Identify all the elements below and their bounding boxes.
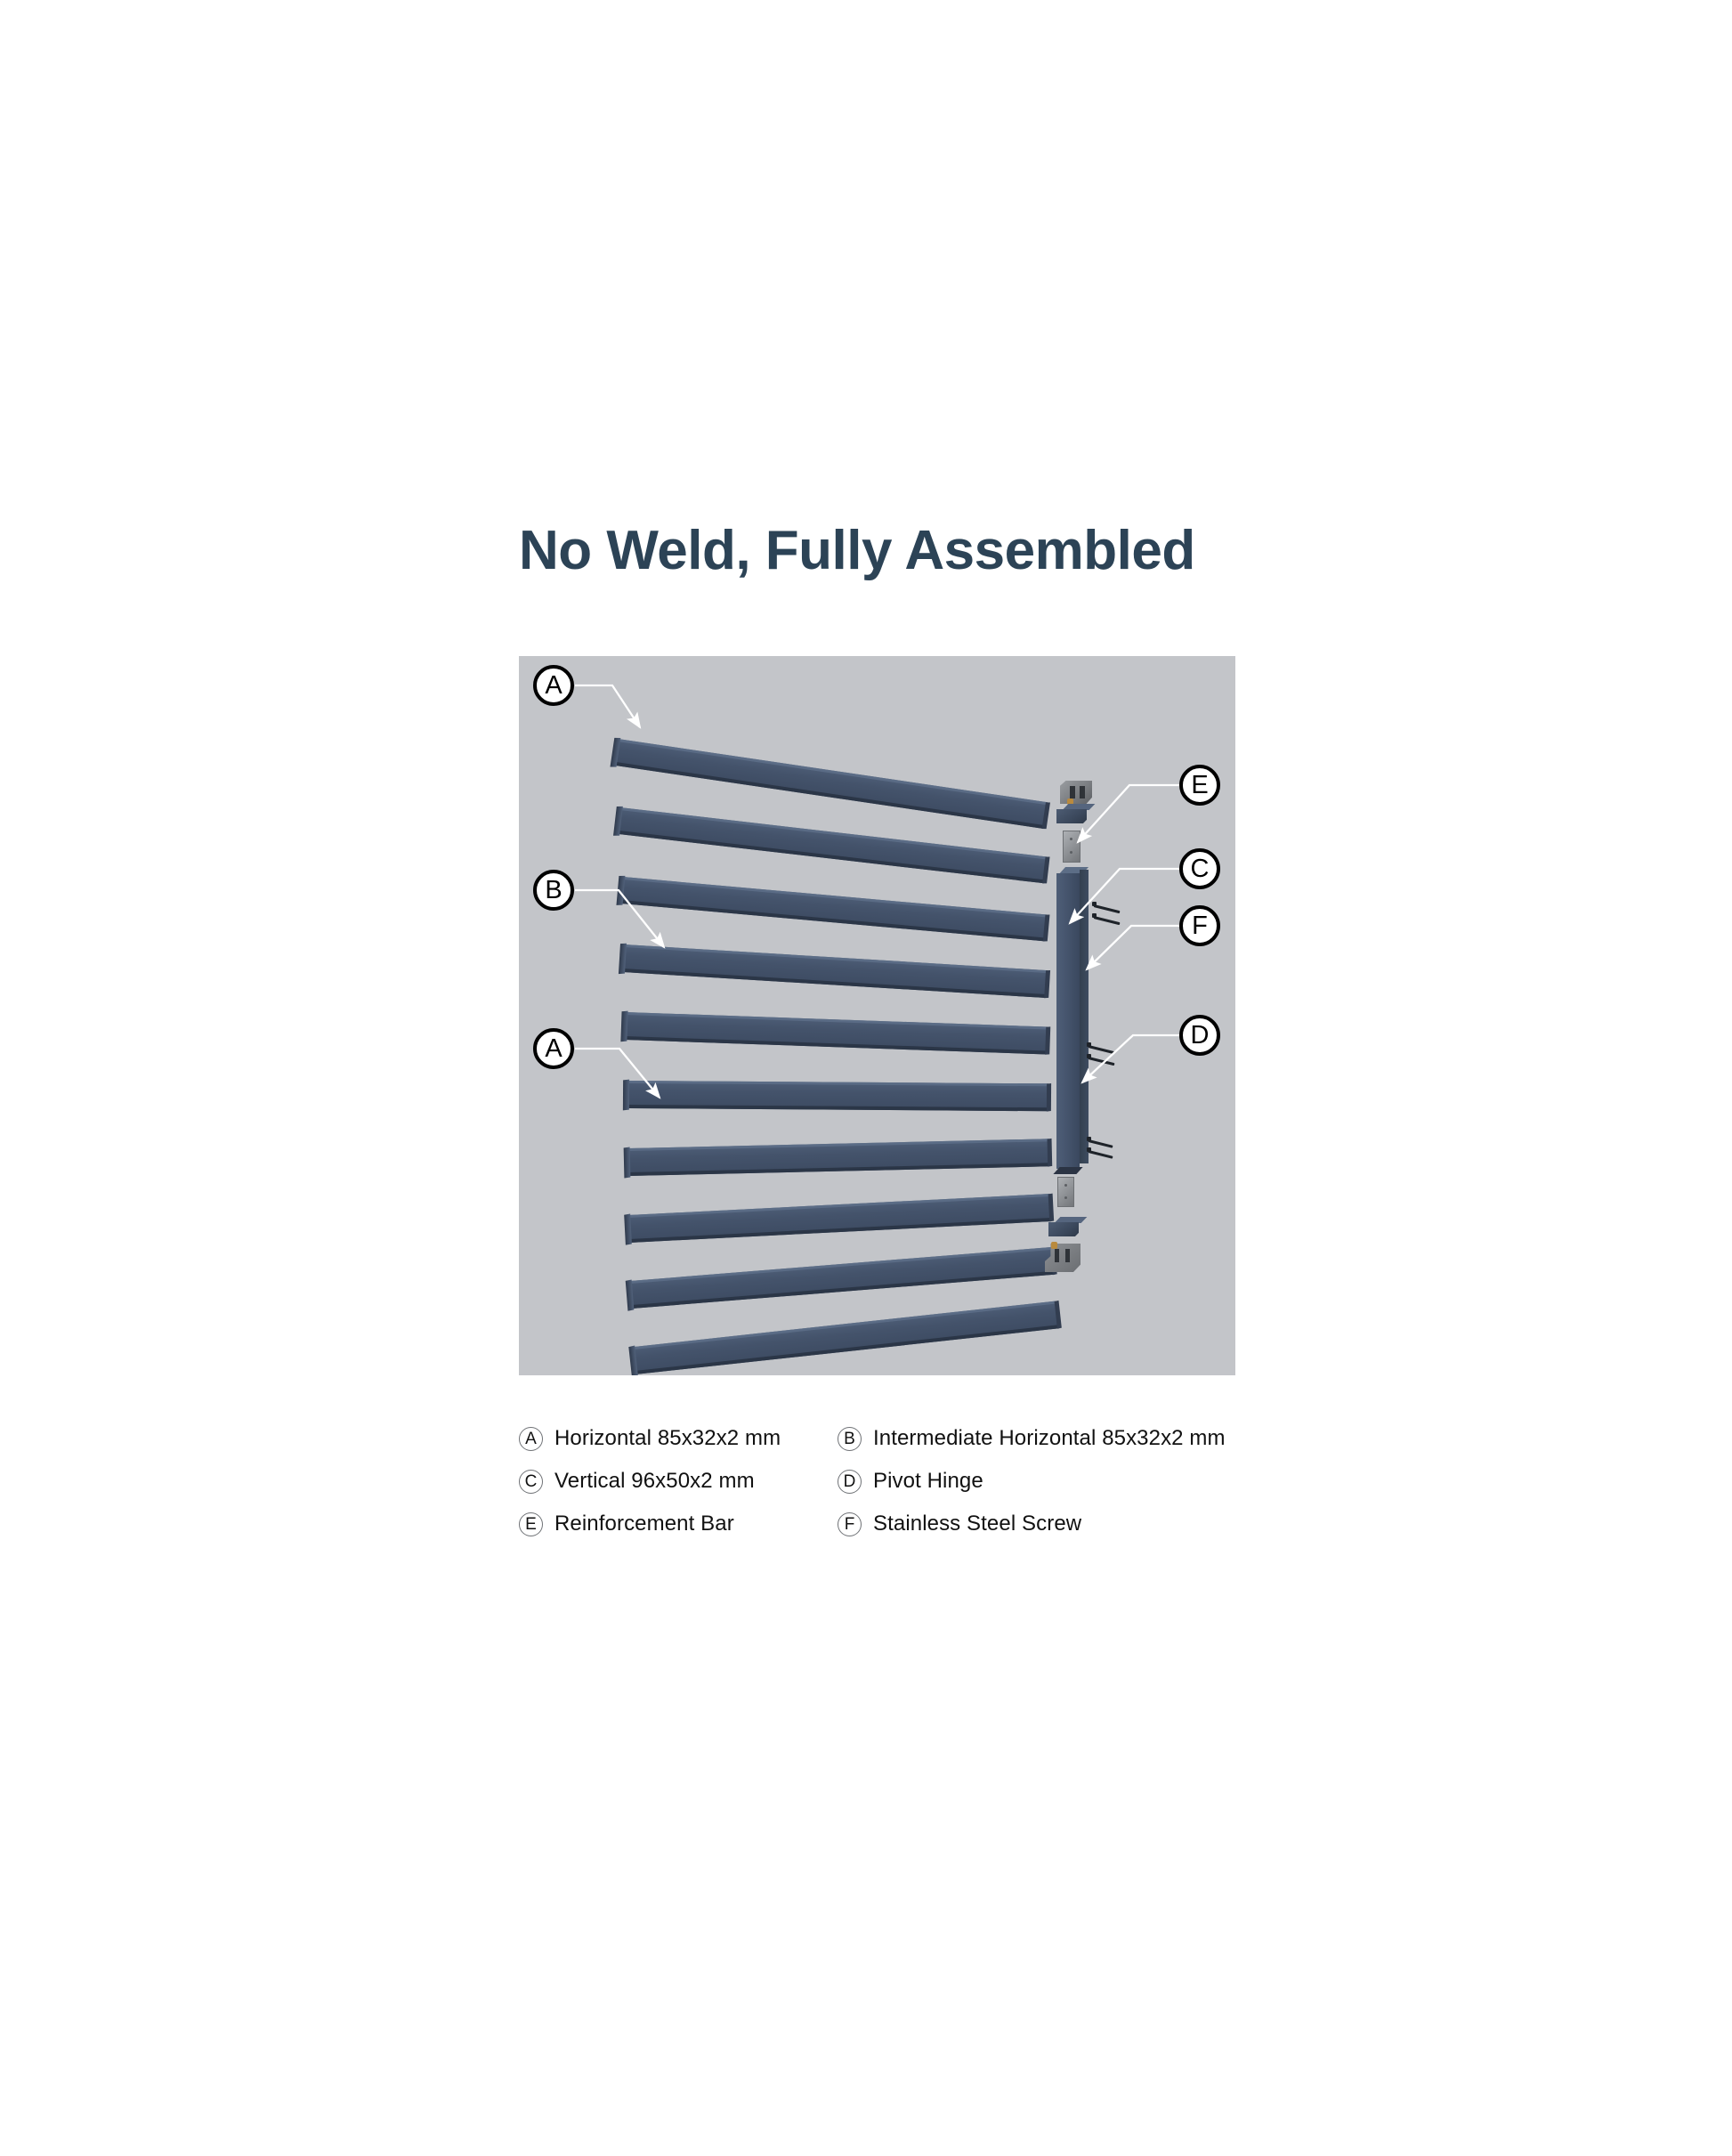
legend-badge-a: A [519, 1427, 543, 1451]
callout-b[interactable]: B [533, 870, 574, 911]
stainless-steel-screw [1089, 1150, 1113, 1159]
stainless-steel-screw [1094, 916, 1121, 925]
callout-d[interactable]: D [1179, 1015, 1220, 1056]
legend-label-f: Stainless Steel Screw [873, 1512, 1081, 1536]
stainless-steel-screw [1089, 1139, 1113, 1148]
legend-item-f: F Stainless Steel Screw [838, 1512, 1240, 1536]
legend-item-c: C Vertical 96x50x2 mm [519, 1469, 838, 1494]
legend-row: A Horizontal 85x32x2 mm B Intermediate H… [519, 1417, 1240, 1460]
legend-badge-c: C [519, 1470, 543, 1494]
stainless-steel-screw [1094, 904, 1121, 913]
legend-badge-d: D [838, 1470, 862, 1494]
legend-row: E Reinforcement Bar F Stainless Steel Sc… [519, 1503, 1240, 1545]
legend-label-e: Reinforcement Bar [554, 1512, 734, 1536]
post-cap-block [1048, 1222, 1079, 1236]
screw-head [1087, 1054, 1091, 1058]
post-cap-block [1056, 809, 1087, 823]
callout-f[interactable]: F [1179, 905, 1220, 946]
legend-item-e: E Reinforcement Bar [519, 1512, 838, 1536]
legend-item-a: A Horizontal 85x32x2 mm [519, 1426, 838, 1451]
reinforcement-bar [1057, 1177, 1074, 1207]
page-root: No Weld, Fully Assembled [0, 0, 1732, 2156]
screw-head [1087, 1137, 1091, 1141]
post-cap-top-face [1055, 1217, 1088, 1223]
post-bottom-face [1053, 1167, 1082, 1174]
reinforcement-bar [1063, 831, 1080, 863]
exploded-assembly-figure: A B A E C F D [519, 656, 1235, 1375]
vertical-post [1056, 873, 1080, 1169]
legend-label-d: Pivot Hinge [873, 1469, 983, 1494]
stainless-steel-screw [1089, 1045, 1115, 1054]
legend-badge-e: E [519, 1512, 543, 1536]
reinforcement-hole [1064, 1184, 1067, 1187]
pivot-hinge-bottom [1045, 1244, 1080, 1272]
hinge-slot [1065, 1249, 1070, 1262]
hinge-slot [1080, 786, 1085, 798]
reinforcement-hole [1070, 851, 1072, 854]
callout-a-top[interactable]: A [533, 665, 574, 706]
screw-head [1087, 1042, 1091, 1047]
stainless-steel-screw [1089, 1057, 1115, 1066]
callout-a-bottom[interactable]: A [533, 1028, 574, 1069]
legend-badge-b: B [838, 1427, 862, 1451]
hinge-slot [1055, 1249, 1059, 1262]
screw-head [1092, 913, 1097, 918]
figure-stage: A B A E C F D [519, 656, 1235, 1375]
post-cap-top-face [1063, 804, 1096, 810]
pivot-hinge-top [1060, 781, 1092, 804]
screw-head [1087, 1147, 1091, 1152]
parts-legend: A Horizontal 85x32x2 mm B Intermediate H… [519, 1417, 1240, 1545]
legend-row: C Vertical 96x50x2 mm D Pivot Hinge [519, 1460, 1240, 1503]
legend-item-d: D Pivot Hinge [838, 1469, 1240, 1494]
hinge-brass-pin [1051, 1242, 1057, 1249]
vertical-post-side [1080, 870, 1089, 1163]
legend-badge-f: F [838, 1512, 862, 1536]
vertical-post-assembly [519, 656, 1235, 1375]
legend-label-c: Vertical 96x50x2 mm [554, 1469, 755, 1494]
legend-label-a: Horizontal 85x32x2 mm [554, 1426, 781, 1451]
hinge-slot [1070, 786, 1075, 798]
screw-head [1092, 902, 1097, 906]
callout-c[interactable]: C [1179, 848, 1220, 889]
legend-label-b: Intermediate Horizontal 85x32x2 mm [873, 1426, 1226, 1451]
callout-e[interactable]: E [1179, 765, 1220, 806]
legend-item-b: B Intermediate Horizontal 85x32x2 mm [838, 1426, 1240, 1451]
reinforcement-hole [1070, 838, 1072, 840]
reinforcement-hole [1064, 1196, 1067, 1199]
page-title: No Weld, Fully Assembled [519, 523, 1195, 579]
